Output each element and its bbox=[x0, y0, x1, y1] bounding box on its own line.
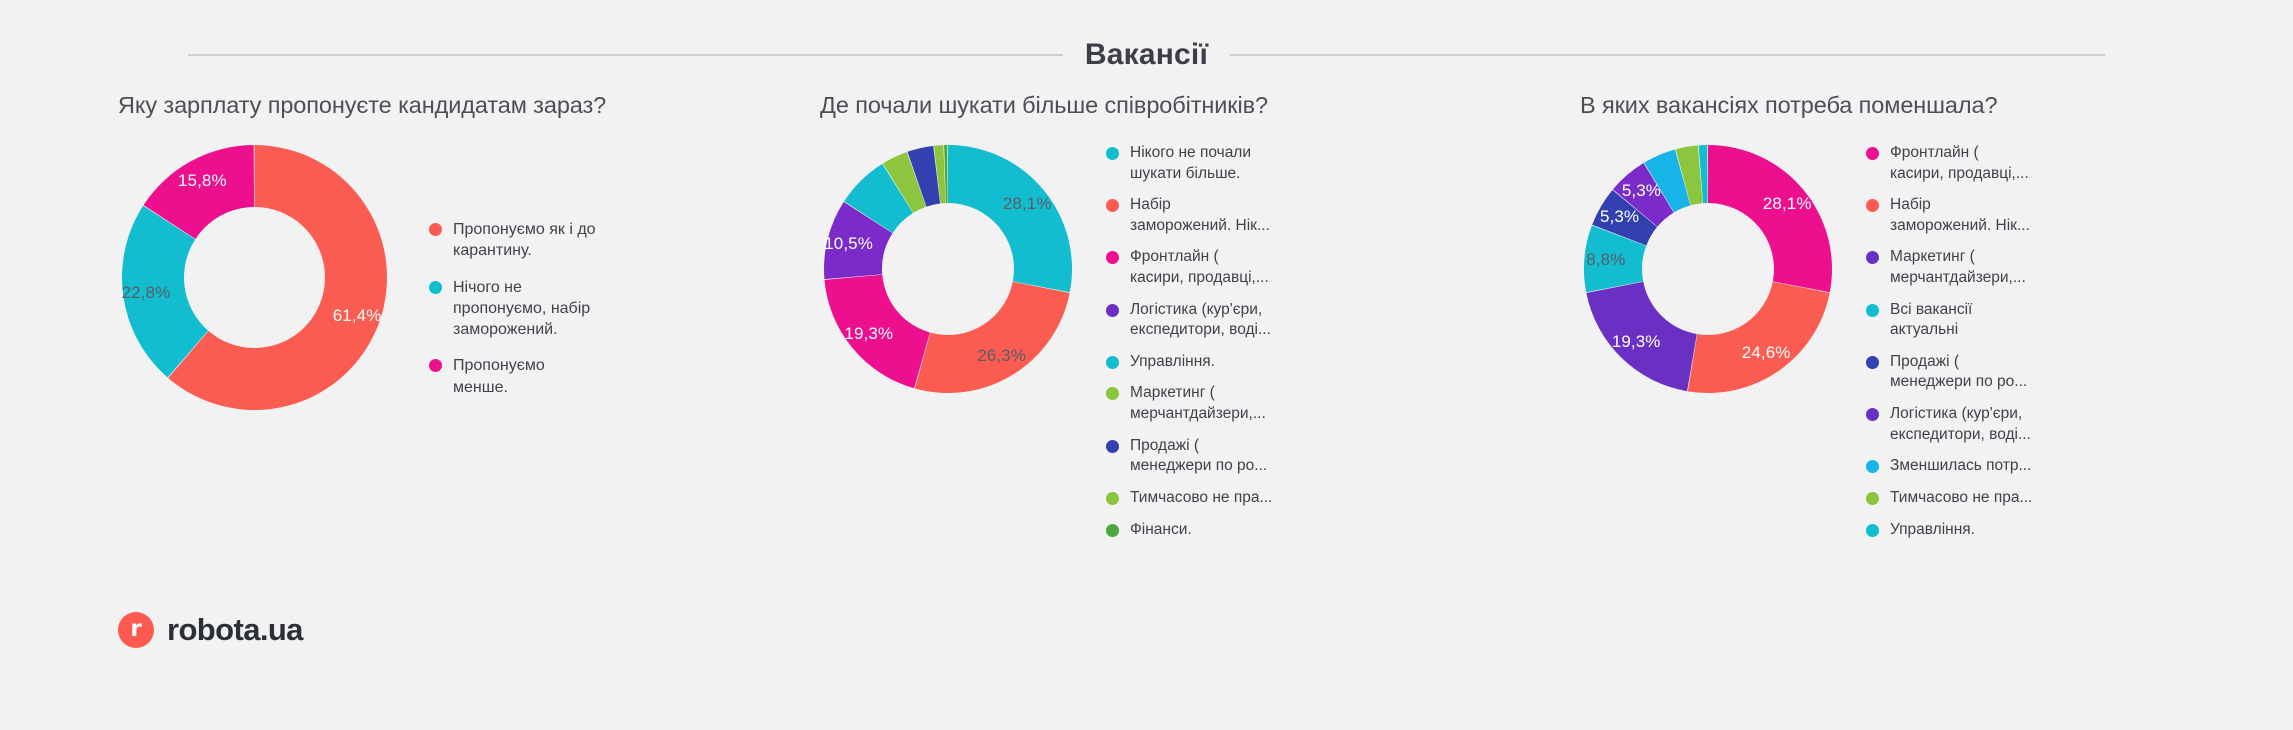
legend-item-label: Фінанси. bbox=[1130, 520, 1192, 541]
chart-title-3: В яких вакансіях потреба поменшала? bbox=[1580, 92, 2293, 119]
chart-title-1: Яку зарплату пропонуєте кандидатам зараз… bbox=[118, 92, 760, 119]
legend-item-label: Пропонуємо менше. bbox=[453, 355, 545, 398]
logo-circle-icon: r bbox=[118, 612, 154, 648]
legend-item[interactable]: Фронтлайн ( касири, продавці,... bbox=[1866, 143, 2032, 184]
legend-swatch-icon bbox=[1106, 251, 1119, 264]
legend-item[interactable]: Продажі ( менеджери по ро... bbox=[1106, 436, 1272, 477]
pie-slice[interactable] bbox=[824, 275, 930, 389]
legend-item[interactable]: Набір заморожений. Нік... bbox=[1106, 195, 1272, 236]
chart-panel-hiring: Де почали шукати більше співробітників? … bbox=[760, 92, 1520, 551]
page-header: Вакансії bbox=[0, 38, 2293, 72]
legend-item[interactable]: Управління. bbox=[1866, 520, 2032, 541]
legend-item-label: Тимчасово не пра... bbox=[1890, 488, 2032, 509]
legend-item-label: Продажі ( менеджери по ро... bbox=[1130, 436, 1267, 477]
legend-swatch-icon bbox=[429, 359, 442, 372]
chart-title-2: Де почали шукати більше співробітників? bbox=[820, 92, 1520, 119]
header-rule-right bbox=[1230, 54, 2105, 56]
legend-item[interactable]: Маркетинг ( мерчантдайзери,... bbox=[1866, 247, 2032, 288]
pie-slice[interactable] bbox=[948, 145, 1072, 292]
legend-item-label: Фронтлайн ( касири, продавці,... bbox=[1130, 247, 1269, 288]
legend-item[interactable]: Управління. bbox=[1106, 352, 1272, 373]
legend-item-label: Фронтлайн ( касири, продавці,... bbox=[1890, 143, 2029, 184]
legend-item-label: Всі вакансії актуальні bbox=[1890, 300, 1972, 341]
pie-slice[interactable] bbox=[915, 282, 1070, 393]
legend-item-label: Управління. bbox=[1130, 352, 1215, 373]
logo-wordmark: robota.ua bbox=[167, 612, 303, 648]
infographic-page: Вакансії Яку зарплату пропонуєте кандида… bbox=[0, 0, 2293, 730]
legend-item[interactable]: Нічого не пропонуємо, набір заморожений. bbox=[429, 277, 596, 341]
pie-slice[interactable] bbox=[1708, 145, 1832, 292]
legend-item[interactable]: Продажі ( менеджери по ро... bbox=[1866, 352, 2032, 393]
legend-item[interactable]: Логістика (кур'єри, експедитори, воді... bbox=[1866, 404, 2032, 445]
legend-swatch-icon bbox=[1106, 304, 1119, 317]
legend-item[interactable]: Набір заморожений. Нік... bbox=[1866, 195, 2032, 236]
legend-swatch-icon bbox=[429, 281, 442, 294]
chart-legend-1: Пропонуємо як і до карантину.Нічого не п… bbox=[391, 141, 596, 413]
legend-item-label: Маркетинг ( мерчантдайзери,... bbox=[1890, 247, 2026, 288]
legend-swatch-icon bbox=[1866, 147, 1879, 160]
legend-swatch-icon bbox=[1106, 387, 1119, 400]
legend-swatch-icon bbox=[1866, 524, 1879, 537]
legend-swatch-icon bbox=[1106, 524, 1119, 537]
logo-letter: r bbox=[118, 612, 154, 648]
legend-item[interactable]: Фінанси. bbox=[1106, 520, 1272, 541]
legend-item-label: Пропонуємо як і до карантину. bbox=[453, 219, 596, 262]
legend-item[interactable]: Тимчасово не пра... bbox=[1106, 488, 1272, 509]
legend-item-label: Набір заморожений. Нік... bbox=[1130, 195, 1270, 236]
legend-item[interactable]: Маркетинг ( мерчантдайзери,... bbox=[1106, 383, 1272, 424]
legend-swatch-icon bbox=[1106, 147, 1119, 160]
page-title: Вакансії bbox=[1085, 38, 1208, 72]
legend-swatch-icon bbox=[1106, 199, 1119, 212]
legend-swatch-icon bbox=[1866, 304, 1879, 317]
legend-swatch-icon bbox=[429, 223, 442, 236]
legend-item-label: Набір заморожений. Нік... bbox=[1890, 195, 2030, 236]
chart-panel-reduced: В яких вакансіях потреба поменшала? 28,1… bbox=[1520, 92, 2293, 551]
legend-item[interactable]: Всі вакансії актуальні bbox=[1866, 300, 2032, 341]
legend-swatch-icon bbox=[1106, 440, 1119, 453]
legend-item-label: Нічого не пропонуємо, набір заморожений. bbox=[453, 277, 590, 341]
legend-swatch-icon bbox=[1866, 251, 1879, 264]
donut-chart-3: 28,1%24,6%19,3%8,8%5,3%5,3% bbox=[1580, 141, 1836, 397]
header-rule-left bbox=[188, 54, 1063, 56]
chart-legend-2: Нікого не почали шукати більше.Набір зам… bbox=[1076, 141, 1272, 551]
legend-item-label: Продажі ( менеджери по ро... bbox=[1890, 352, 2027, 393]
legend-swatch-icon bbox=[1866, 408, 1879, 421]
legend-item-label: Логістика (кур'єри, експедитори, воді... bbox=[1130, 300, 1271, 341]
legend-swatch-icon bbox=[1866, 199, 1879, 212]
pie-slice[interactable] bbox=[1688, 282, 1830, 393]
pie-slice[interactable] bbox=[1586, 282, 1697, 391]
legend-item-label: Управління. bbox=[1890, 520, 1975, 541]
legend-item-label: Нікого не почали шукати більше. bbox=[1130, 143, 1251, 184]
legend-item[interactable]: Фронтлайн ( касири, продавці,... bbox=[1106, 247, 1272, 288]
legend-swatch-icon bbox=[1866, 460, 1879, 473]
legend-item-label: Маркетинг ( мерчантдайзери,... bbox=[1130, 383, 1266, 424]
charts-container: Яку зарплату пропонуєте кандидатам зараз… bbox=[0, 92, 2293, 551]
legend-item[interactable]: Тимчасово не пра... bbox=[1866, 488, 2032, 509]
donut-chart-1: 61,4%22,8%15,8% bbox=[118, 141, 391, 414]
legend-item[interactable]: Нікого не почали шукати більше. bbox=[1106, 143, 1272, 184]
legend-item[interactable]: Пропонуємо менше. bbox=[429, 355, 596, 398]
legend-swatch-icon bbox=[1866, 356, 1879, 369]
legend-swatch-icon bbox=[1866, 492, 1879, 505]
legend-item[interactable]: Зменшилась потр... bbox=[1866, 456, 2032, 477]
legend-item[interactable]: Пропонуємо як і до карантину. bbox=[429, 219, 596, 262]
robota-ua-logo[interactable]: r robota.ua bbox=[118, 612, 303, 648]
legend-item[interactable]: Логістика (кур'єри, експедитори, воді... bbox=[1106, 300, 1272, 341]
legend-item-label: Тимчасово не пра... bbox=[1130, 488, 1272, 509]
chart-legend-3: Фронтлайн ( касири, продавці,...Набір за… bbox=[1836, 141, 2032, 551]
legend-item-label: Логістика (кур'єри, експедитори, воді... bbox=[1890, 404, 2031, 445]
legend-swatch-icon bbox=[1106, 492, 1119, 505]
legend-item-label: Зменшилась потр... bbox=[1890, 456, 2031, 477]
donut-chart-2: 28,1%26,3%19,3%10,5% bbox=[820, 141, 1076, 397]
legend-swatch-icon bbox=[1106, 356, 1119, 369]
chart-panel-salary: Яку зарплату пропонуєте кандидатам зараз… bbox=[0, 92, 760, 551]
